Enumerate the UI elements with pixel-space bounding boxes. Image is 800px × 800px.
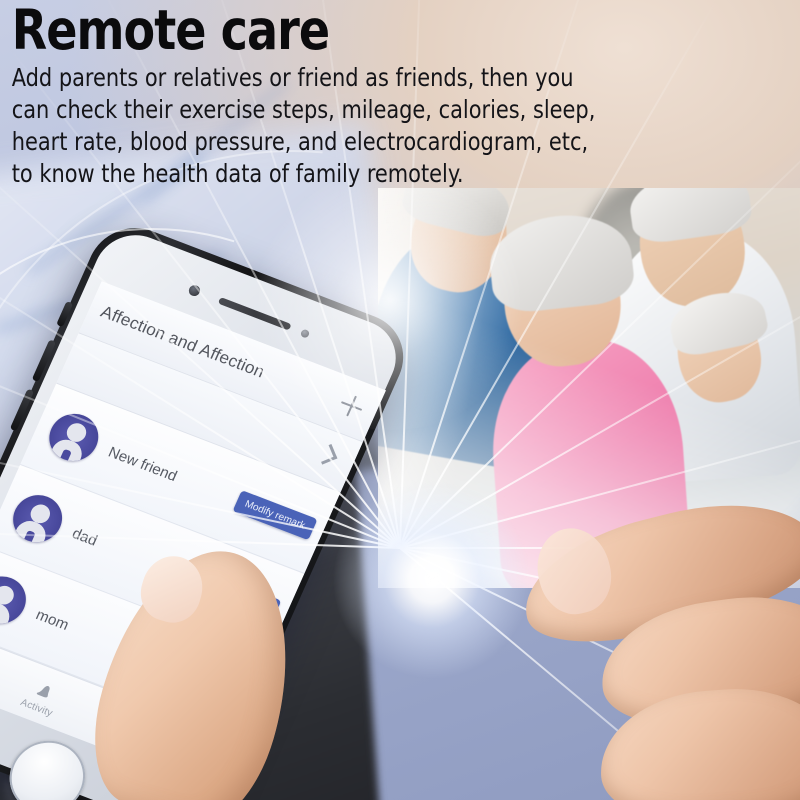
- promo-body-line: can check their exercise steps, mileage,…: [12, 94, 737, 126]
- friend-name: New friend: [106, 443, 241, 508]
- promo-body: Add parents or relatives or friend as fr…: [8, 62, 737, 190]
- modify-remark-button[interactable]: Modify remark: [232, 490, 317, 540]
- plus-icon[interactable]: [337, 392, 367, 420]
- page-title: Remote care: [8, 0, 737, 58]
- proximity-sensor-icon: [300, 329, 311, 339]
- shoe-icon: [32, 679, 56, 702]
- front-camera-icon: [187, 284, 202, 298]
- chevron-right-icon: [316, 444, 337, 465]
- promo-body-line: to know the health data of family remote…: [12, 158, 737, 190]
- user-avatar-icon: [5, 488, 69, 549]
- promo-copy: Remote care Add parents or relatives or …: [0, 0, 800, 190]
- promo-body-line: Add parents or relatives or friend as fr…: [12, 62, 737, 94]
- user-avatar-icon: [42, 407, 106, 468]
- earpiece-speaker: [218, 297, 292, 331]
- promo-body-line: heart rate, blood pressure, and electroc…: [12, 126, 737, 158]
- user-avatar-icon: [0, 569, 34, 630]
- promo-banner: Affection and Affection: [0, 0, 800, 800]
